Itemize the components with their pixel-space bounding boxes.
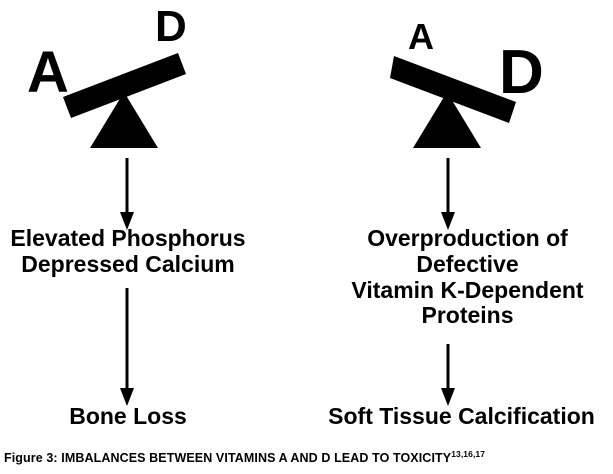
figure-caption-text: Figure 3: IMBALANCES BETWEEN VITAMINS A … bbox=[4, 451, 451, 465]
balance-scale-left bbox=[60, 50, 195, 150]
down-arrow-icon bbox=[431, 158, 465, 232]
letter-vitamin-d-right: D bbox=[499, 42, 544, 104]
balance-scale-left-graphic bbox=[60, 50, 195, 150]
outcome-soft-tissue-calcification: Soft Tissue Calcification bbox=[310, 404, 613, 430]
figure-caption-superscript: 13,16,17 bbox=[451, 449, 485, 459]
letter-vitamin-d-left: D bbox=[155, 5, 187, 49]
arrow-left-outcome1-to-outcome2 bbox=[110, 288, 144, 413]
figure-caption: Figure 3: IMBALANCES BETWEEN VITAMINS A … bbox=[4, 449, 604, 465]
down-arrow-icon bbox=[110, 158, 144, 232]
outcome-overproduction-defective-vitamin-k-proteins: Overproduction of Defective Vitamin K-De… bbox=[322, 226, 613, 329]
letter-vitamin-a-right: A bbox=[408, 19, 434, 55]
figure-canvas: A D Elevated Phosphorus Depressed Calciu… bbox=[0, 0, 613, 474]
down-arrow-icon bbox=[110, 288, 144, 408]
outcome-bone-loss: Bone Loss bbox=[0, 404, 256, 430]
outcome-elevated-phosphorus-depressed-calcium: Elevated Phosphorus Depressed Calcium bbox=[0, 226, 256, 278]
letter-vitamin-a-left: A bbox=[27, 44, 69, 102]
down-arrow-icon bbox=[431, 344, 465, 408]
